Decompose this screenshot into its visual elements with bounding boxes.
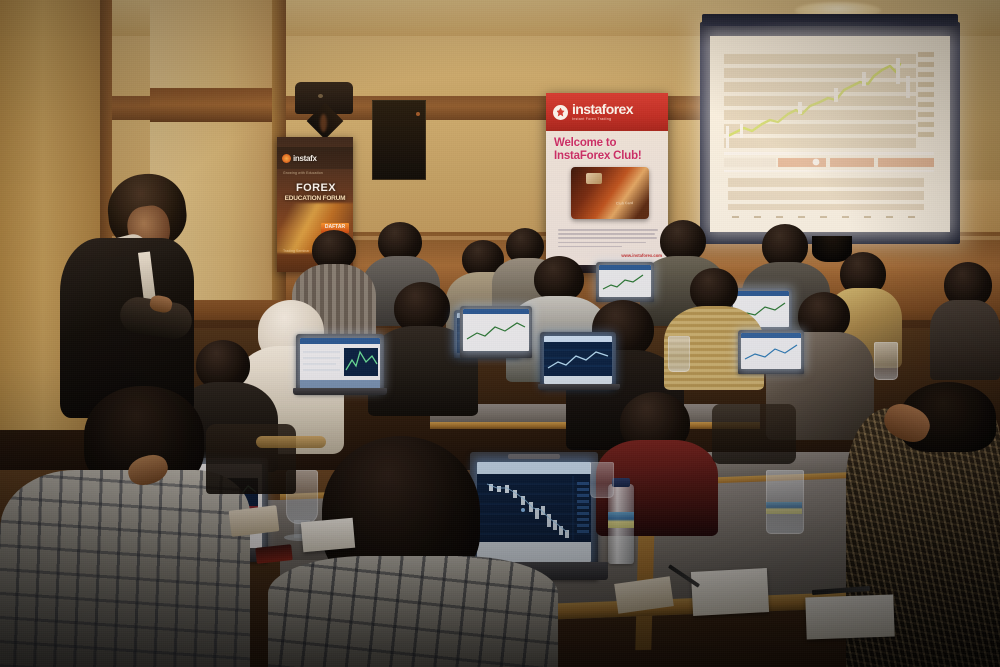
projection-screen [700, 22, 960, 244]
laptop-display [463, 309, 529, 351]
projected-forex-chart [710, 36, 950, 232]
attendee-body [930, 300, 1000, 380]
projection-screen-roller [702, 14, 958, 26]
club-card-image [571, 167, 649, 219]
banner-left-logo-text: instafx [293, 154, 317, 163]
banner-url: www.instaforex.com [604, 253, 662, 258]
drinking-glass [590, 462, 614, 498]
laptop-chart [741, 333, 801, 369]
glass-label [766, 502, 802, 514]
laptop-chart [300, 338, 380, 388]
drinking-glass [874, 342, 898, 380]
banner-header: instaforex Instant Forex Trading [546, 93, 668, 131]
laptop-base [538, 384, 620, 390]
laptop-brand-badge [508, 454, 560, 459]
banner-body-text [558, 229, 658, 247]
laptop-display [599, 265, 651, 297]
banner-headline: Welcome to InstaForex Club! [554, 137, 662, 162]
chair-back [712, 404, 796, 464]
laptop-chart-downtrend [477, 462, 591, 562]
drinking-glass [668, 336, 690, 372]
laptop-row2-mid [460, 306, 532, 358]
laptop-chart [463, 309, 529, 351]
instaforex-logo-text: instaforex [572, 102, 633, 116]
wall-speaker-driver [318, 94, 323, 98]
banner-left-title: FOREX [281, 182, 351, 194]
instaforex-logo-icon [553, 105, 568, 120]
chair-back [206, 424, 296, 494]
notepad [691, 568, 769, 616]
instafx-logo-icon [282, 154, 291, 163]
laptop-chart [599, 265, 651, 297]
bottle-label [608, 512, 634, 528]
instaforex-tagline: Instant Forex Trading [572, 118, 633, 122]
laptop-row3-right [738, 330, 804, 374]
banner-left-header: instafx [277, 147, 353, 169]
projection-screen-surface [710, 36, 950, 232]
laptop-display [300, 338, 380, 388]
notepad [805, 594, 894, 639]
club-card-chip-icon [586, 173, 602, 184]
banner-left-subtitle-2: EDUCATION FORUM [279, 195, 351, 202]
speaker-horn-core [320, 114, 327, 132]
chair-rail [256, 436, 326, 448]
banner-left-subtitle: Growing with Education [283, 171, 349, 175]
rollup-banner-instaforex: instaforex Instant Forex Trading Welcome… [546, 93, 668, 273]
laptop-base [293, 388, 387, 395]
bottle-cap [612, 478, 630, 487]
foreground-attendee-plaid-shirt [268, 556, 558, 667]
speaker-led-icon [416, 112, 420, 116]
laptop-display [477, 462, 591, 562]
foreground-attendee-left-shirt [0, 470, 250, 667]
laptop-chart [544, 336, 612, 384]
wall-column-center-rail [150, 88, 280, 122]
laptop-row2-left [296, 334, 384, 394]
laptop-display [741, 333, 801, 369]
seminar-photo: instafx Growing with Education FOREX EDU… [0, 0, 1000, 667]
paper-sheet [301, 518, 355, 552]
laptop-row4-a [596, 262, 654, 302]
laptop-display [544, 336, 612, 384]
laptop-row3-mid [540, 332, 616, 390]
